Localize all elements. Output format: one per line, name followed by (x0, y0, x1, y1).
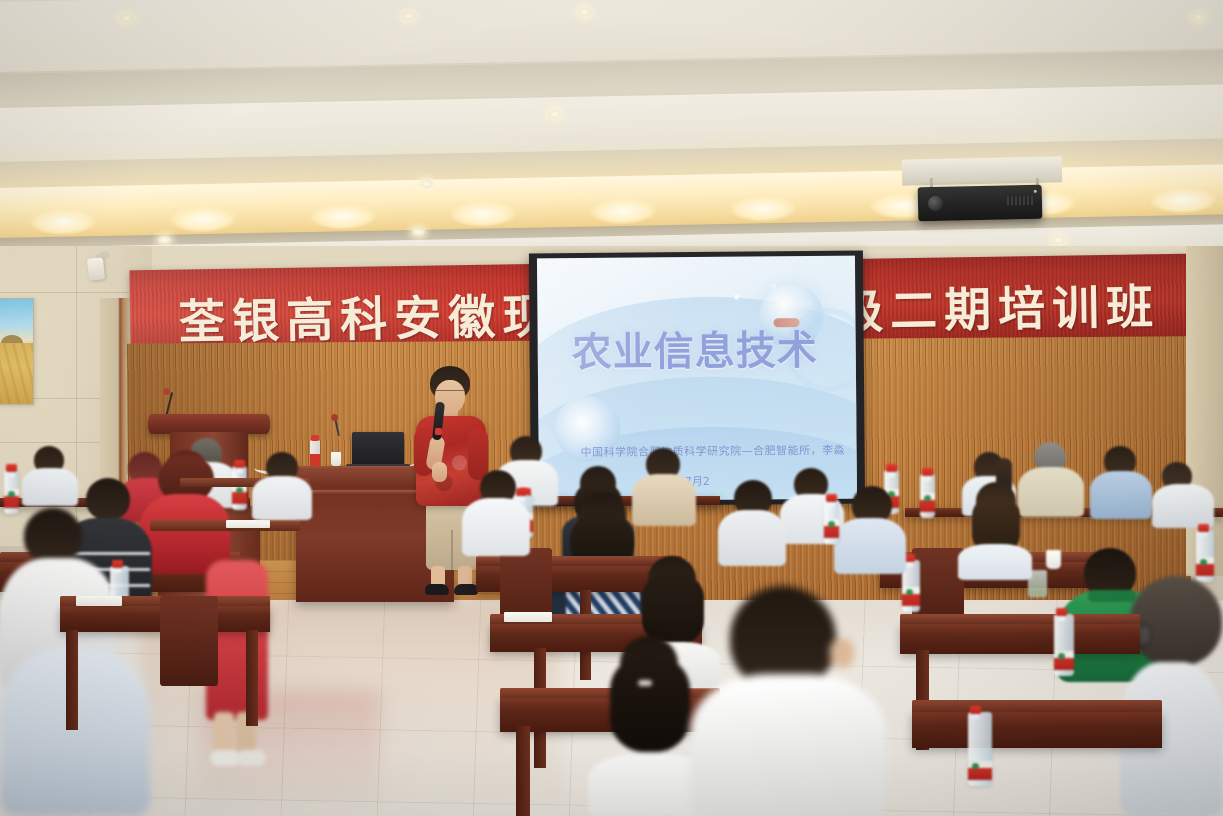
attendee (462, 470, 532, 558)
presenter-hand (432, 462, 447, 482)
bottle-label (4, 489, 19, 508)
downlight-icon (120, 14, 133, 22)
desk (912, 712, 1162, 748)
conference-room-photo: 荃银高科安徽现 6级二期培训班 农业信息技术 中国科学院合肥物质科学研究院—合肥… (0, 0, 1223, 816)
bottle-cap-icon (112, 560, 123, 568)
downlight-icon (1192, 13, 1205, 21)
attendee-hair (610, 656, 690, 752)
downlight-icon (158, 236, 171, 244)
bottle-label (968, 761, 992, 780)
photo-sky (0, 299, 33, 341)
attendee-shirt (958, 544, 1032, 580)
attendee-shirt (462, 498, 530, 556)
handout-paper[interactable] (226, 520, 270, 528)
desk-leg (66, 630, 78, 730)
chair-back[interactable] (160, 596, 218, 686)
attendee-shirt (718, 510, 786, 566)
attendee (834, 486, 908, 574)
projector-lens-icon (928, 196, 943, 211)
lectern-top (148, 414, 270, 434)
glasses-icon (435, 390, 465, 397)
paper-cup[interactable] (331, 452, 341, 466)
attendee-shirt (834, 518, 906, 574)
water-bottle[interactable] (824, 500, 839, 544)
water-bottle[interactable] (1196, 530, 1214, 582)
downlight-icon (578, 8, 591, 16)
handout-paper[interactable] (76, 596, 122, 606)
bottle-label (824, 519, 839, 538)
desk-leg (246, 630, 258, 726)
attendee (1152, 462, 1214, 526)
water-bottle[interactable] (968, 712, 992, 786)
table-microphone-icon (331, 414, 338, 421)
handout-paper[interactable] (504, 612, 552, 622)
laptop[interactable] (352, 432, 404, 466)
desk-leg (516, 726, 530, 816)
attendee-shirt (1152, 484, 1214, 528)
downlight-icon (420, 180, 433, 188)
attendee-leg (214, 712, 234, 754)
downlight-icon (548, 110, 561, 118)
downlight-icon (1052, 236, 1065, 244)
bottle-label (1196, 557, 1214, 576)
downlight-icon (402, 12, 415, 20)
podium-microphone-icon (163, 388, 170, 395)
attendee (718, 480, 788, 566)
presenter-shoe (454, 584, 478, 595)
projector-led-icon (1034, 190, 1037, 193)
desk (900, 624, 1140, 654)
attendee-foreground-white (690, 586, 886, 816)
bottle-label (232, 485, 247, 504)
bottle-cap-icon (1198, 524, 1209, 532)
attendee-shirt (690, 674, 886, 816)
bottle-label (1054, 651, 1074, 670)
slide-title: 农业信息技术 (571, 318, 817, 378)
water-bottle[interactable] (1054, 614, 1074, 676)
attendee-shirt (1090, 471, 1152, 519)
bottle-cap-icon (234, 460, 245, 468)
bottle-cap-icon (1056, 608, 1067, 616)
pants-seam (451, 530, 453, 570)
photo-furrows (0, 343, 33, 404)
ceiling-projector (918, 185, 1043, 222)
attendee-foreground-right (1120, 576, 1223, 816)
hair-clip-icon (638, 680, 652, 686)
wall-speaker-icon (87, 257, 105, 281)
bottle-cap-icon (922, 468, 933, 476)
attendee (1090, 446, 1154, 518)
microphone-led-icon (435, 428, 442, 435)
bottle-cap-icon (886, 464, 897, 472)
wheat-field-photo (0, 298, 34, 405)
water-bottle[interactable] (232, 466, 247, 510)
bottle-label (902, 587, 920, 606)
bottle-cap-icon (6, 464, 17, 472)
attendee-long-hair (958, 482, 1034, 578)
bottle-cap-icon (826, 494, 837, 502)
presenter-shoe (425, 584, 449, 595)
attendee (252, 452, 314, 518)
attendee-shoe (236, 750, 266, 766)
attendee-shirt (252, 476, 312, 520)
bottle-label (920, 493, 935, 512)
downlight-icon (412, 228, 425, 236)
water-bottle[interactable] (920, 474, 935, 518)
projector-vent (1007, 196, 1033, 206)
attendee-head (24, 508, 82, 564)
slide-subtitle: 中国科学院合肥物质科学研究院—合肥智能所，李淼 (581, 442, 846, 460)
bottle-cap-icon (311, 435, 319, 441)
desk-top (150, 520, 300, 531)
bottle-cap-icon (970, 706, 981, 714)
attendee-ear (830, 638, 854, 668)
attendee-head (1130, 576, 1222, 666)
